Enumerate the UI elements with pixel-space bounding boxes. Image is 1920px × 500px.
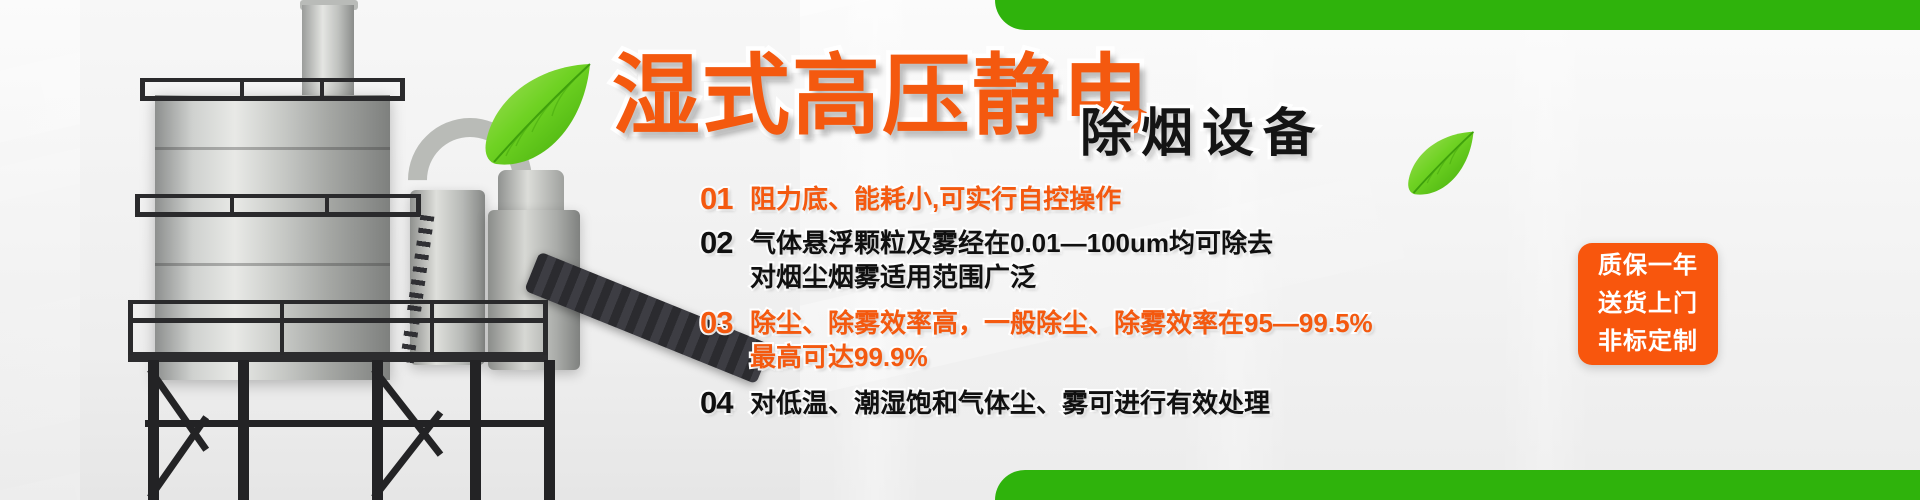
feature-item-03: 03 除尘、除雾效率高，一般除尘、除雾效率在95—99.5% 最高可达99.9% [700,306,1560,374]
feature-text-02: 气体悬浮颗粒及雾经在0.01—100um均可除去 对烟尘烟雾适用范围广泛 [750,226,1273,294]
feature-text-01: 阻力底、能耗小,可实行自控操作 [750,182,1121,216]
feature-number-01: 01 [700,182,750,216]
green-ribbon-top [995,0,1920,30]
support-legs [120,360,560,500]
feature-number-02: 02 [700,226,750,260]
badge-line-3: 非标定制 [1598,323,1698,361]
leaf-icon-left [478,58,598,170]
feature-number-04: 04 [700,386,750,420]
promo-banner: 湿式高压静电 除烟设备 01 阻力底、能耗小,可实行自控操作 02 气体悬浮颗粒… [0,0,1920,500]
page-subtitle: 除烟设备 [1080,108,1324,160]
feature-item-02: 02 气体悬浮颗粒及雾经在0.01—100um均可除去 对烟尘烟雾适用范围广泛 [700,226,1560,294]
green-ribbon-bottom [995,470,1920,500]
service-badge: 质保一年 送货上门 非标定制 [1578,243,1718,365]
feature-number-03: 03 [700,306,750,340]
feature-item-01: 01 阻力底、能耗小,可实行自控操作 [700,182,1560,216]
feature-text-03: 除尘、除雾效率高，一般除尘、除雾效率在95—99.5% 最高可达99.9% [750,306,1373,374]
feature-text-04: 对低温、潮湿饱和气体尘、雾可进行有效处理 [750,386,1270,420]
badge-line-1: 质保一年 [1598,247,1698,285]
headline-block: 湿式高压静电 除烟设备 [612,52,1392,162]
badge-line-2: 送货上门 [1598,285,1698,323]
feature-item-04: 04 对低温、潮湿饱和气体尘、雾可进行有效处理 [700,386,1560,420]
feature-list: 01 阻力底、能耗小,可实行自控操作 02 气体悬浮颗粒及雾经在0.01—100… [700,182,1560,426]
